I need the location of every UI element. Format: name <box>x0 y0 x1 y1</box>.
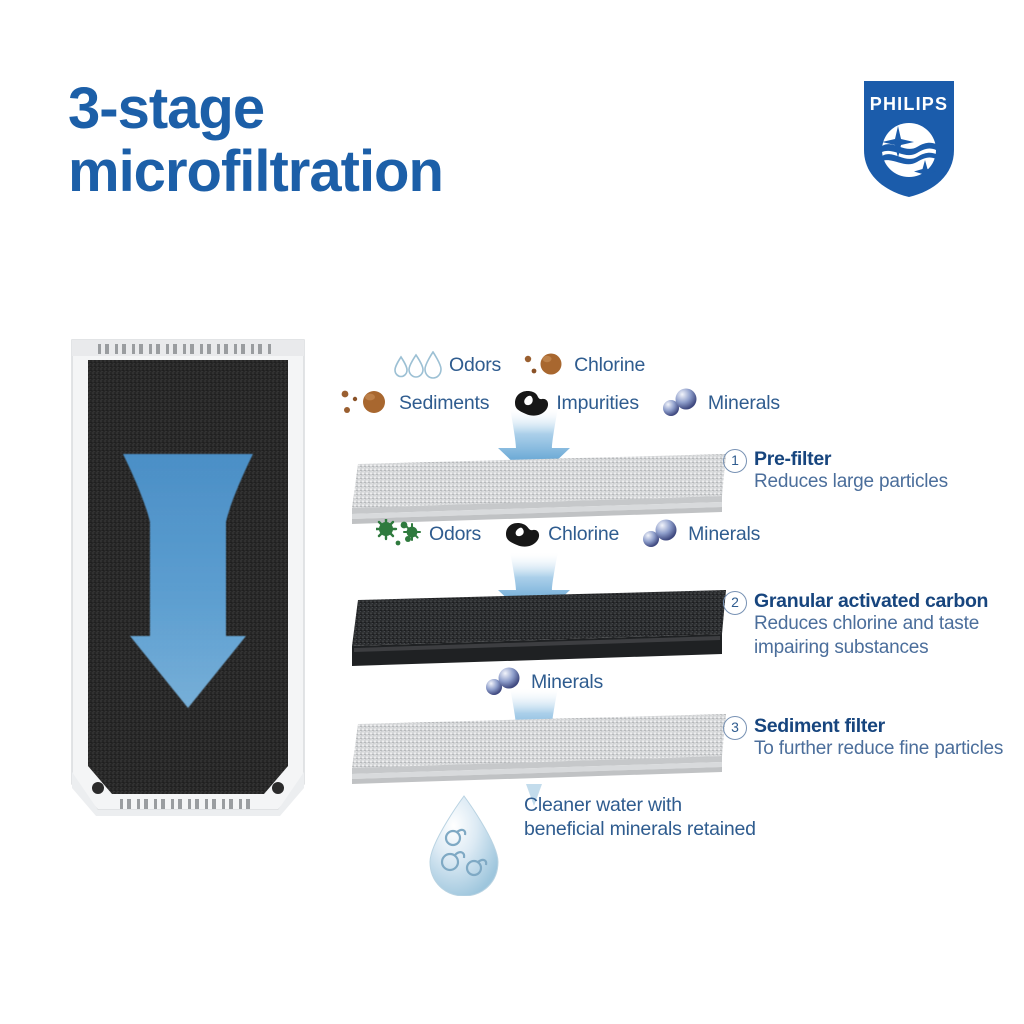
contaminant-label: Minerals <box>708 392 780 415</box>
contaminant-row-2: Sediments Impurities Minerals <box>338 386 780 420</box>
stage-title: Granular activated carbon <box>754 590 988 612</box>
microbe-odor-icon <box>376 519 424 549</box>
contaminant-label: Chlorine <box>574 354 645 377</box>
contaminant-row-3: Odors Chlorine Minerals <box>376 518 760 550</box>
stage-number-badge: 2 <box>723 591 747 615</box>
mineral-spheres-icon <box>661 387 703 419</box>
contaminant-row-4: Minerals <box>484 666 603 698</box>
page-title-line1: 3-stage <box>68 76 264 141</box>
pre-filter-layer <box>352 454 726 524</box>
contaminant-label: Odors <box>429 523 481 546</box>
sediment-particles-icon <box>338 386 394 420</box>
stage-description-line1: Reduces chlorine and taste <box>754 612 988 635</box>
contaminant-label: Minerals <box>531 671 603 694</box>
water-droplets-icon <box>392 351 444 379</box>
stage-3: 3 Sediment filter To further reduce fine… <box>723 715 1003 761</box>
stage-title: Sediment filter <box>754 715 1003 737</box>
contaminant-label: Sediments <box>399 392 489 415</box>
contaminant-label: Chlorine <box>548 523 619 546</box>
philips-shield-logo: PHILIPS <box>861 78 957 200</box>
contaminant-label: Impurities <box>556 392 639 415</box>
mineral-spheres-icon <box>484 666 526 698</box>
impurities-blob-icon <box>511 387 551 419</box>
outcome-line1: Cleaner water with <box>524 794 682 816</box>
stage-description: Reduces large particles <box>754 470 948 493</box>
carbon-layer <box>352 590 726 666</box>
contaminant-label: Odors <box>449 354 501 377</box>
stage-number-badge: 3 <box>723 716 747 740</box>
stage-title: Pre-filter <box>754 448 948 470</box>
page-title: 3-stage microfiltration <box>68 78 688 203</box>
contaminant-label: Minerals <box>688 523 760 546</box>
stage-number-badge: 1 <box>723 449 747 473</box>
stage-description-line2: impairing substances <box>754 636 988 659</box>
stage-2: 2 Granular activated carbon Reduces chlo… <box>723 590 988 659</box>
water-filter-cartridge <box>68 336 308 832</box>
contaminant-row-1: Odors Chlorine <box>392 350 645 380</box>
sediment-filter-layer <box>352 714 726 784</box>
chlorine-particles-icon <box>523 350 569 380</box>
stage-description: To further reduce fine particles <box>754 737 1003 760</box>
chlorine-blob-icon <box>503 519 543 549</box>
outcome-text: Cleaner water with beneficial minerals r… <box>524 793 756 842</box>
outcome-line2: beneficial minerals retained <box>524 818 756 840</box>
outcome-callout: Cleaner water with beneficial minerals r… <box>424 793 756 842</box>
philips-wordmark: PHILIPS <box>870 94 948 114</box>
mineral-spheres-icon <box>641 518 683 550</box>
page-title-line2: microfiltration <box>68 141 688 204</box>
stage-1: 1 Pre-filter Reduces large particles <box>723 448 948 494</box>
